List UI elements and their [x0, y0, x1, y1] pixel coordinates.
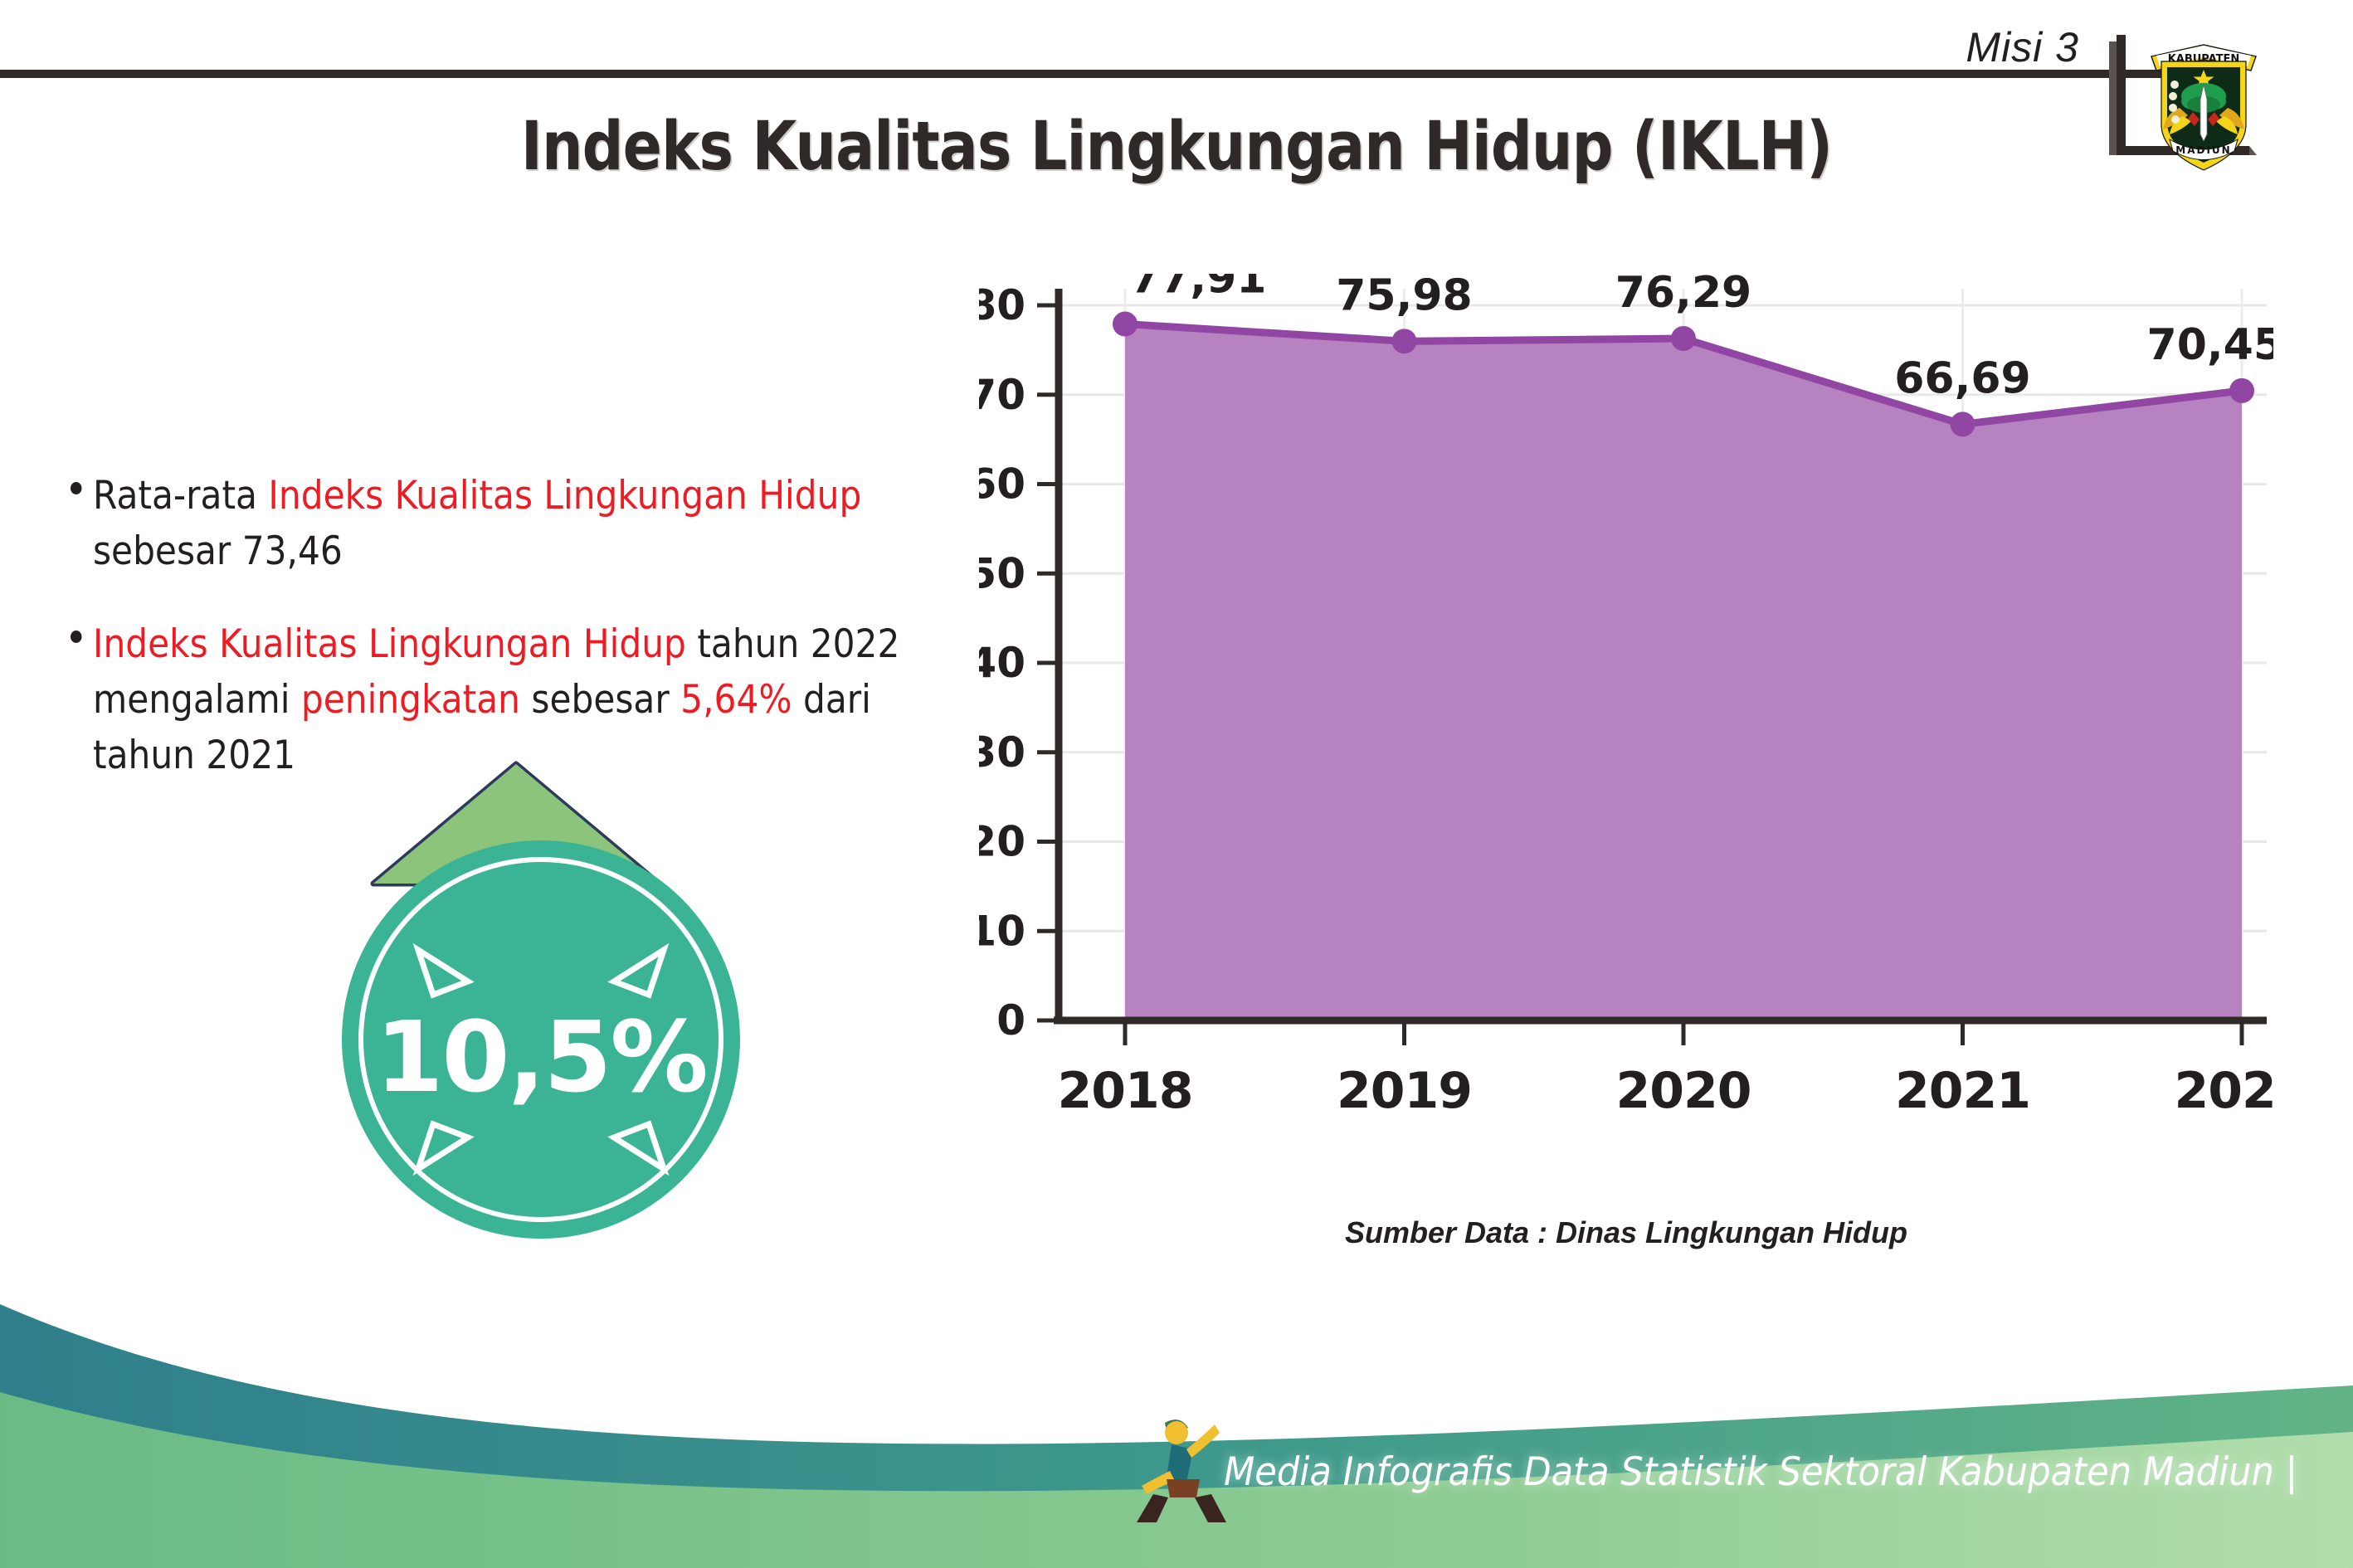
- chart-data-label: 75,98: [1336, 274, 1472, 320]
- y-axis-tick-label: 80: [979, 281, 1025, 329]
- chart-marker: [2229, 378, 2254, 403]
- y-axis-tick-label: 20: [979, 818, 1025, 866]
- y-axis-tick-label: 50: [979, 549, 1025, 597]
- bullet-plain: sebesar: [520, 677, 680, 723]
- chart-marker: [1671, 326, 1696, 351]
- chart-marker: [1951, 411, 1975, 436]
- chart-data-label: 77,91: [1130, 274, 1266, 304]
- footer-band: Media Infografis Data Statistik Sektoral…: [0, 1286, 2353, 1568]
- chart-data-label: 76,29: [1615, 274, 1751, 318]
- y-axis-tick-label: 70: [979, 371, 1025, 419]
- source-note: Sumber Data : Dinas Lingkungan Hidup: [979, 1215, 2273, 1250]
- x-axis-tick-label: 2021: [1895, 1062, 2030, 1120]
- chart-marker: [1113, 312, 1138, 337]
- chart-data-label: 66,69: [1894, 353, 2030, 403]
- page-title: Indeks Kualitas Lingkungan Hidup (IKLH): [165, 108, 2189, 186]
- iklh-area-chart: 01020304050607080 20182019202020212022 7…: [979, 274, 2273, 1186]
- bullet-dot-icon: [71, 482, 82, 494]
- bullet-highlight: Indeks Kualitas Lingkungan Hidup: [93, 621, 686, 667]
- x-axis-tick-label: 2018: [1058, 1062, 1193, 1120]
- y-axis-tick-label: 10: [979, 907, 1025, 955]
- x-axis-tick-label: 2019: [1337, 1062, 1472, 1120]
- chart-area-fill: [1125, 324, 2242, 1020]
- x-axis-tick-label: 2022: [2175, 1062, 2274, 1120]
- y-axis-tick-label: 0: [996, 996, 1025, 1045]
- misi-label: Misi 3: [1966, 23, 2079, 71]
- y-axis-tick-label: 40: [979, 639, 1025, 687]
- chart-y-axis-labels: 01020304050607080: [979, 281, 1025, 1045]
- bullet-text: Rata-rata Indeks Kualitas Lingkungan Hid…: [93, 473, 861, 574]
- x-axis-tick-label: 2020: [1616, 1062, 1751, 1120]
- y-axis-tick-label: 30: [979, 728, 1025, 777]
- bullet-highlight: 5,64%: [680, 677, 792, 723]
- bullet-highlight: peningkatan: [301, 677, 520, 723]
- bullet-highlight: Indeks Kualitas Lingkungan Hidup: [268, 473, 861, 519]
- chart-data-label: 70,45: [2147, 320, 2273, 370]
- increase-badge: 10,5%: [324, 751, 788, 1215]
- bullet-dot-icon: [71, 631, 82, 643]
- chart-marker: [1392, 329, 1417, 353]
- bullet-plain: sebesar 73,46: [93, 528, 343, 574]
- badge-percent-value: 10,5%: [342, 840, 740, 1239]
- footer-caption: Media Infografis Data Statistik Sektoral…: [1224, 1449, 2297, 1495]
- y-axis-tick-label: 60: [979, 460, 1025, 509]
- header-divider-rule: [0, 70, 2207, 78]
- chart-x-axis-labels: 20182019202020212022: [1058, 1062, 2274, 1120]
- chart-canvas: 01020304050607080 20182019202020212022 7…: [979, 274, 2273, 1186]
- bullet-plain: Rata-rata: [93, 473, 268, 519]
- dancer-figure-logo-icon: [1135, 1406, 1226, 1522]
- bullet-item: Rata-rata Indeks Kualitas Lingkungan Hid…: [71, 469, 907, 579]
